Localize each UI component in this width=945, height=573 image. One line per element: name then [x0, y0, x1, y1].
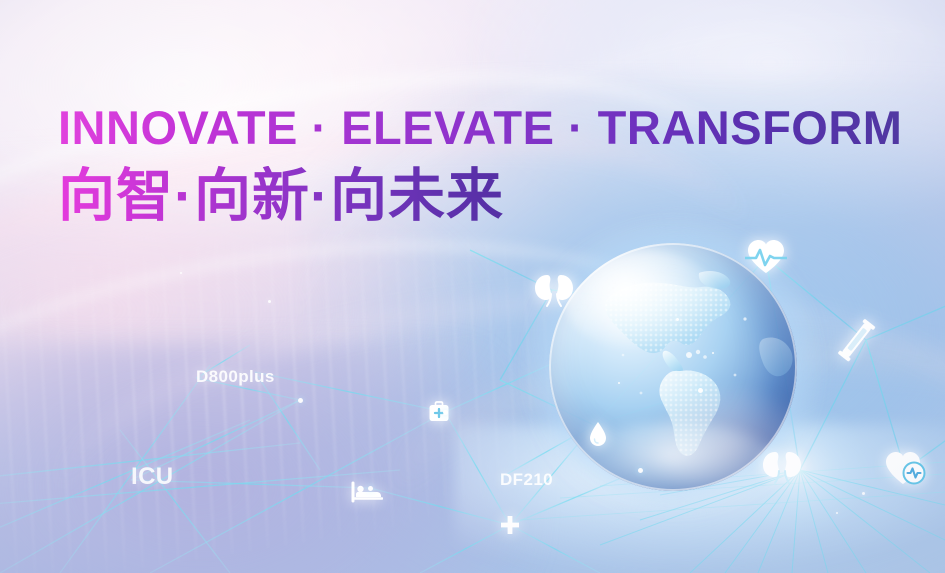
hero-banner: INNOVATE · ELEVATE · TRANSFORM 向智·向新·向未来… — [0, 0, 945, 573]
device-label-df210: DF210 — [500, 470, 553, 490]
network-node-dot — [443, 410, 448, 415]
sparkle — [676, 318, 679, 321]
network-node-dot — [638, 468, 643, 473]
sparkle — [836, 512, 838, 514]
heart-monitor-icon — [884, 450, 926, 486]
device-label-icu: ICU — [131, 463, 174, 491]
device-label-d800plus: D800plus — [196, 367, 275, 387]
sparkle — [900, 470, 902, 472]
hospital-bed-icon — [351, 481, 383, 503]
kidneys-icon — [530, 270, 578, 310]
sparkle — [862, 492, 865, 495]
sparkle — [618, 382, 620, 384]
sparkle — [268, 300, 271, 303]
sparkle — [180, 272, 182, 274]
heart-pulse-icon — [745, 238, 787, 276]
page-title: INNOVATE · ELEVATE · TRANSFORM — [58, 103, 902, 152]
network-node-dot — [698, 388, 703, 393]
droplet-icon — [588, 421, 608, 447]
page-subtitle: 向智·向新·向未来 — [58, 166, 504, 228]
network-node-dot — [368, 486, 373, 491]
medical-cross-icon — [500, 515, 520, 535]
network-node-dot — [298, 398, 303, 403]
kidneys-icon — [758, 447, 806, 487]
sparkle — [712, 352, 714, 354]
